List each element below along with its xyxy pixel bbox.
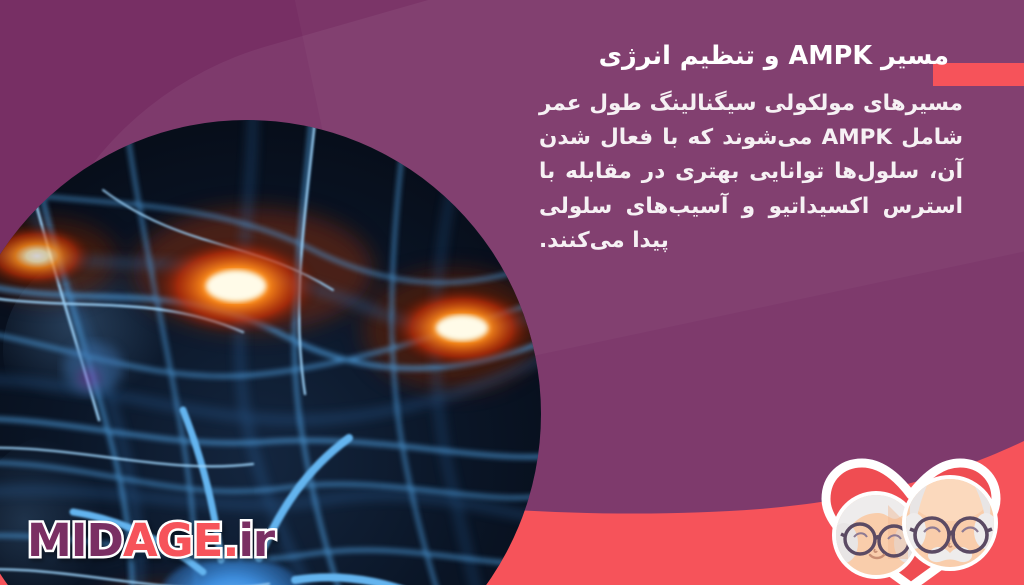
page-title: مسیر AMPK و تنظیم انرژی (539, 40, 963, 73)
elderly-couple-heart-badge (804, 439, 1018, 585)
text-column: مسیر AMPK و تنظیم انرژی مسیرهای مولکولی … (539, 40, 963, 259)
site-logo[interactable]: MIDAGE.ir (27, 518, 274, 563)
body-paragraph: مسیرهای مولکولی سیگنالینگ طول عمر شامل A… (539, 87, 963, 259)
logo-part-age: AGE. (123, 514, 239, 567)
poster-canvas: مسیر AMPK و تنظیم انرژی مسیرهای مولکولی … (0, 0, 1024, 585)
logo-part-mid: MID (27, 514, 123, 567)
logo-part-ir: ir (239, 514, 275, 567)
